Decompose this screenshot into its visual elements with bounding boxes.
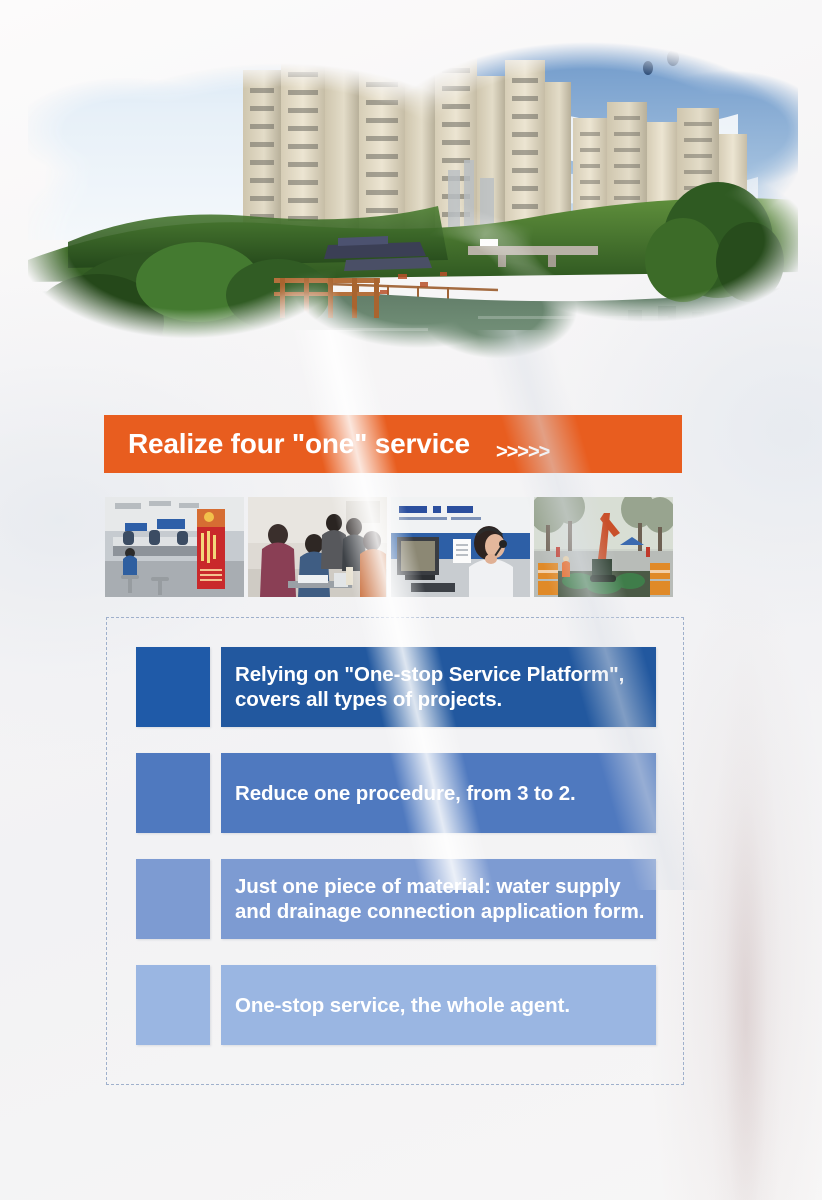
bullet-text: Just one piece of material: water supply…: [221, 859, 656, 939]
hero-illustration: [28, 10, 798, 385]
bullet-line: Just one piece of material: water supply: [235, 874, 656, 899]
list-item[interactable]: Relying on "One-stop Service Platform", …: [136, 647, 656, 727]
bullet-line: Reduce one procedure, from 3 to 2.: [235, 781, 656, 806]
bullet-text: Reduce one procedure, from 3 to 2.: [221, 753, 656, 833]
photo-strip: [105, 497, 683, 597]
spacer: [210, 965, 221, 1045]
page-background: Realize four "one" service >>>>>: [0, 0, 822, 1200]
hero-collage: [28, 10, 798, 385]
bullet-text: One-stop service, the whole agent.: [221, 965, 656, 1045]
spacer: [210, 859, 221, 939]
service-hall-photo: [105, 497, 244, 597]
list-item[interactable]: Reduce one procedure, from 3 to 2.: [136, 753, 656, 833]
bullets-list: Relying on "One-stop Service Platform", …: [136, 647, 656, 1045]
hero-photo: [28, 10, 798, 385]
spacer: [210, 647, 221, 727]
staff-consultation-photo: [248, 497, 387, 597]
list-item[interactable]: Just one piece of material: water supply…: [136, 859, 656, 939]
bullet-chip: [136, 859, 210, 939]
bullet-chip: [136, 965, 210, 1045]
call-center-photo: [391, 497, 530, 597]
spacer: [210, 753, 221, 833]
call-center-illustration: [391, 497, 530, 597]
bullet-text: Relying on "One-stop Service Platform", …: [221, 647, 656, 727]
section-banner: Realize four "one" service >>>>>: [104, 415, 682, 473]
banner-title: Realize four "one" service: [128, 428, 470, 460]
bullet-line: Relying on "One-stop Service Platform",: [235, 662, 656, 687]
bullet-line: and drainage connection application form…: [235, 899, 656, 924]
list-item[interactable]: One-stop service, the whole agent.: [136, 965, 656, 1045]
service-hall-illustration: [105, 497, 244, 597]
bullet-line: One-stop service, the whole agent.: [235, 993, 656, 1018]
pipeline-construction-illustration: [534, 497, 673, 597]
bullet-line: covers all types of projects.: [235, 687, 656, 712]
chevron-right-icon: >>>>>: [496, 441, 549, 464]
bullet-chip: [136, 753, 210, 833]
staff-consultation-illustration: [248, 497, 387, 597]
bullet-chip: [136, 647, 210, 727]
pipeline-construction-photo: [534, 497, 673, 597]
